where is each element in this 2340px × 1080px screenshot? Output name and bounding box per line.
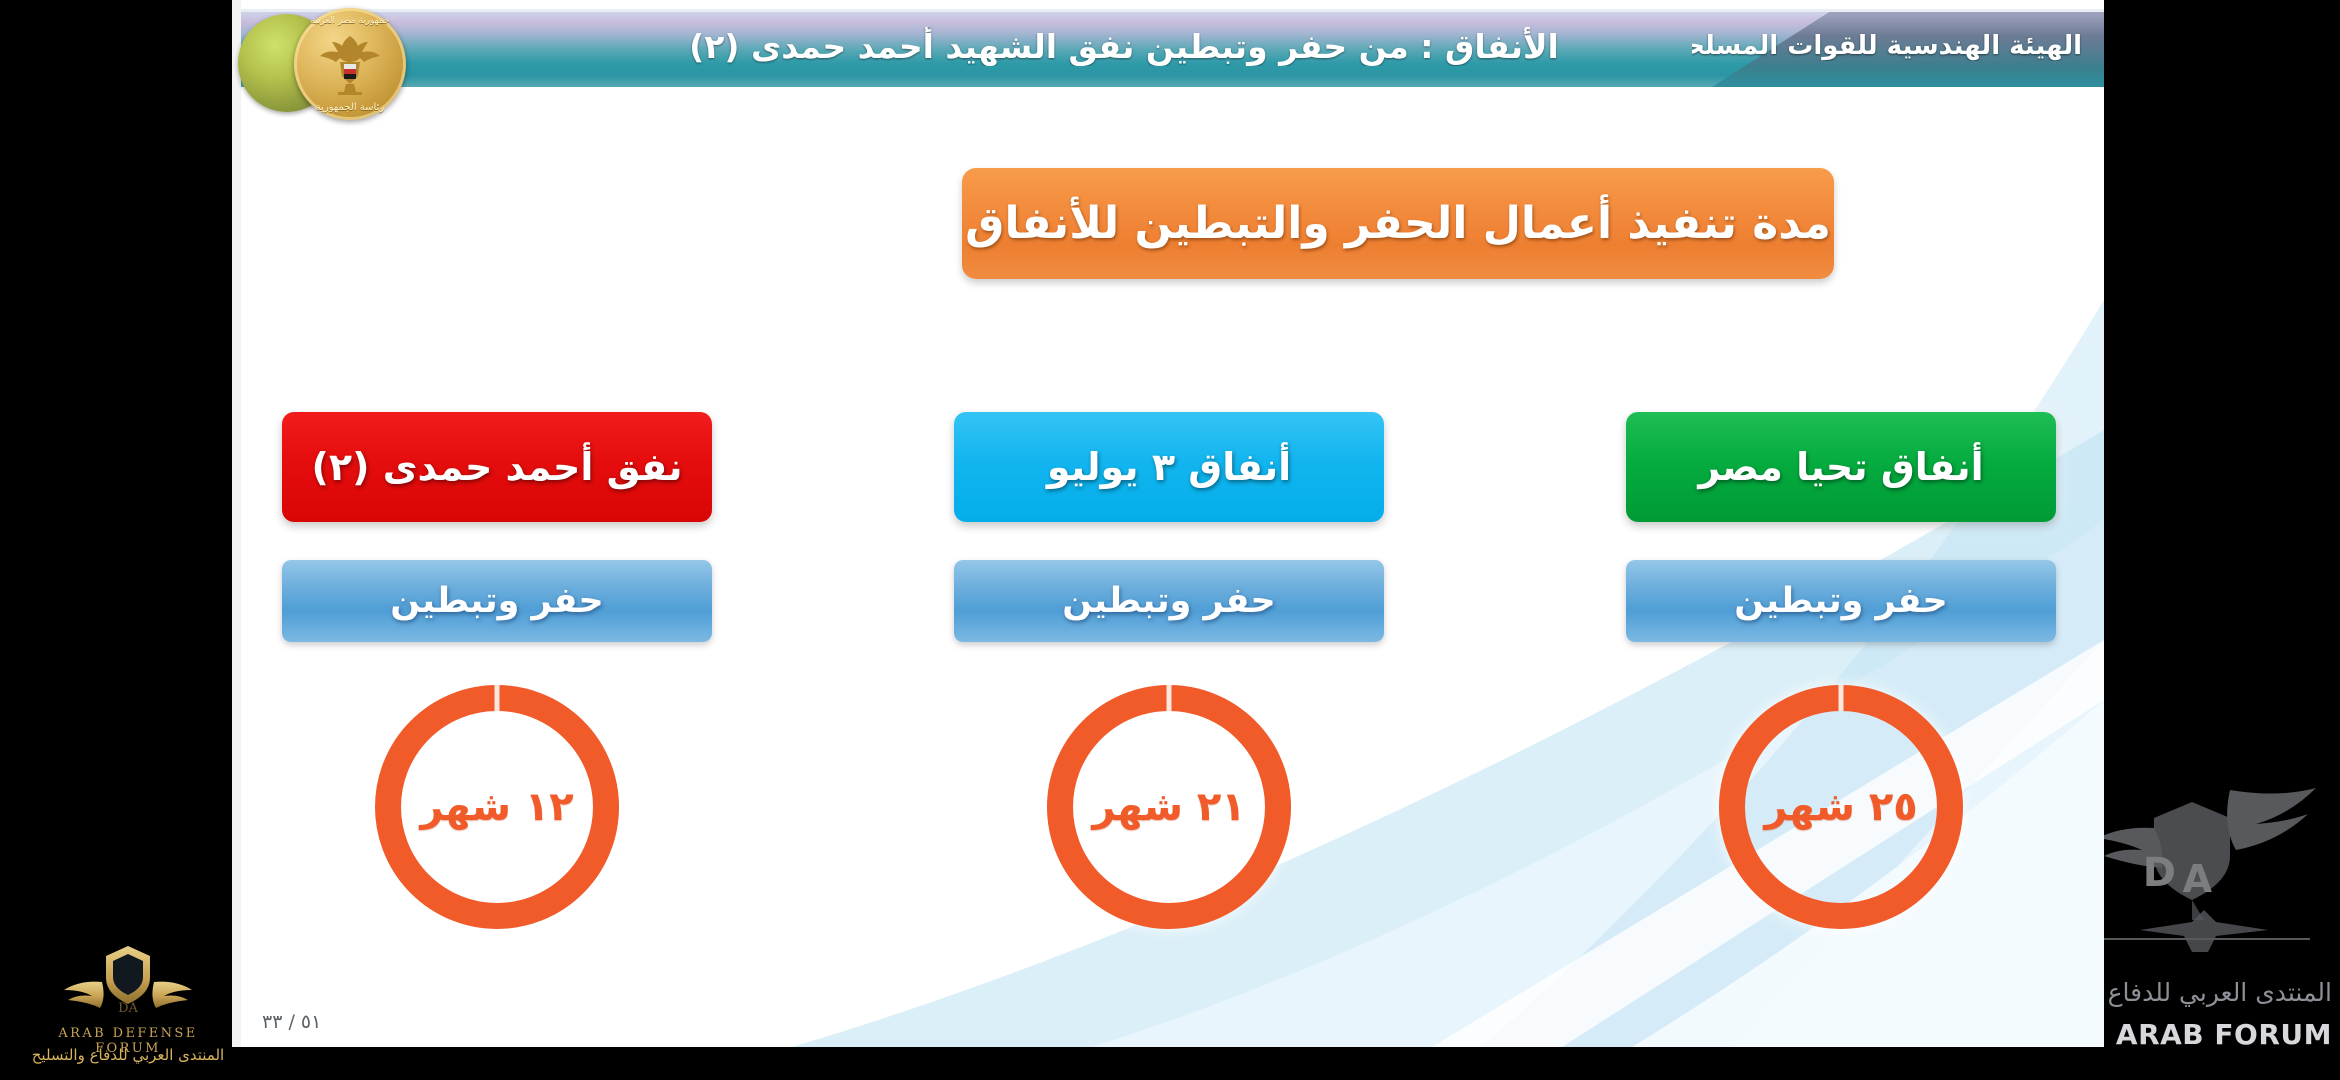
svg-text:A: A xyxy=(2183,857,2213,901)
category-label: أنفاق ٣ يوليو xyxy=(1047,445,1291,489)
svg-text:D: D xyxy=(2143,850,2176,896)
ring-notch xyxy=(1839,685,1844,711)
slide-title: الأنفاق : من حفر وتبطين نفق الشهيد أحمد … xyxy=(574,27,1674,66)
svg-text:DA: DA xyxy=(118,1001,138,1016)
work-label: حفر وتبطين xyxy=(1062,581,1275,621)
arab-defense-forum-watermark-left: DA ARAB DEFENSE FORUM المنتدى العربي للد… xyxy=(28,940,228,1075)
main-title-text: مدة تنفيذ أعمال الحفر والتبطين للأنفاق xyxy=(965,198,1831,249)
republic-emblem: جمهورية مصر العربية رئاسة الجمهورية xyxy=(236,4,421,114)
duration-ring: ٢١ شهر xyxy=(1047,685,1291,929)
category-label: أنفاق تحيا مصر xyxy=(1698,445,1983,489)
duration-label: ٢١ شهر xyxy=(1092,784,1245,830)
duration-label: ٢٥ شهر xyxy=(1764,784,1917,830)
ring-notch xyxy=(495,685,500,711)
emblem-bottom-text: رئاسة الجمهورية xyxy=(294,102,406,113)
category-chip-july-3-tunnels[interactable]: أنفاق ٣ يوليو xyxy=(954,412,1384,522)
category-chip-ahmed-hamdy-2[interactable]: نفق أحمد حمدى (٢) xyxy=(282,412,712,522)
work-chip-july-3-tunnels[interactable]: حفر وتبطين xyxy=(954,560,1384,642)
eagle-of-saladin-icon xyxy=(316,32,384,98)
watermark-left-english: ARAB DEFENSE FORUM xyxy=(28,1026,228,1056)
presentation-slide: الأنفاق : من حفر وتبطين نفق الشهيد أحمد … xyxy=(232,0,2104,1047)
work-label: حفر وتبطين xyxy=(390,581,603,621)
work-chip-tahya-misr-tunnels[interactable]: حفر وتبطين xyxy=(1626,560,2056,642)
ring-notch xyxy=(1167,685,1172,711)
category-chip-tahya-misr-tunnels[interactable]: أنفاق تحيا مصر xyxy=(1626,412,2056,522)
duration-ring: ١٢ شهر xyxy=(375,685,619,929)
column-ahmed-hamdy-2: نفق أحمد حمدى (٢) حفر وتبطين ١٢ شهر xyxy=(282,412,712,932)
duration-ring: ٢٥ شهر xyxy=(1719,685,1963,929)
slide-header: الأنفاق : من حفر وتبطين نفق الشهيد أحمد … xyxy=(241,9,2104,87)
watermark-left-arabic: المنتدى العربي للدفاع والتسليح xyxy=(28,1046,228,1064)
authority-title: الهيئة الهندسية للقوات المسلحة xyxy=(1692,31,2082,61)
emblem-top-text: جمهورية مصر العربية xyxy=(294,16,406,26)
main-title-banner: مدة تنفيذ أعمال الحفر والتبطين للأنفاق xyxy=(962,168,1834,279)
category-label: نفق أحمد حمدى (٢) xyxy=(312,445,683,489)
da-wings-jet-logo-icon: D A xyxy=(2080,770,2330,975)
slide-page-number: ٥١ / ٣٣ xyxy=(262,1011,321,1033)
slide-left-margin xyxy=(232,0,241,1047)
header-top-highlight xyxy=(241,9,2104,12)
duration-ring-wrap-ahmed-hamdy-2: ١٢ شهر xyxy=(282,682,712,932)
column-july-3-tunnels: أنفاق ٣ يوليو حفر وتبطين ٢١ شهر xyxy=(954,412,1384,932)
work-label: حفر وتبطين xyxy=(1734,581,1947,621)
shield-wings-logo-icon: DA xyxy=(58,942,198,1022)
duration-ring-wrap-july-3-tunnels: ٢١ شهر xyxy=(954,682,1384,932)
work-chip-ahmed-hamdy-2[interactable]: حفر وتبطين xyxy=(282,560,712,642)
video-frame: DA ARAB DEFENSE FORUM المنتدى العربي للد… xyxy=(0,0,2340,1080)
column-tahya-misr-tunnels: أنفاق تحيا مصر حفر وتبطين ٢٥ شهر xyxy=(1626,412,2056,932)
emblem-front-coin: جمهورية مصر العربية رئاسة الجمهورية xyxy=(294,8,406,120)
duration-ring-wrap-tahya-misr-tunnels: ٢٥ شهر xyxy=(1626,682,2056,932)
duration-label: ١٢ شهر xyxy=(420,784,573,830)
